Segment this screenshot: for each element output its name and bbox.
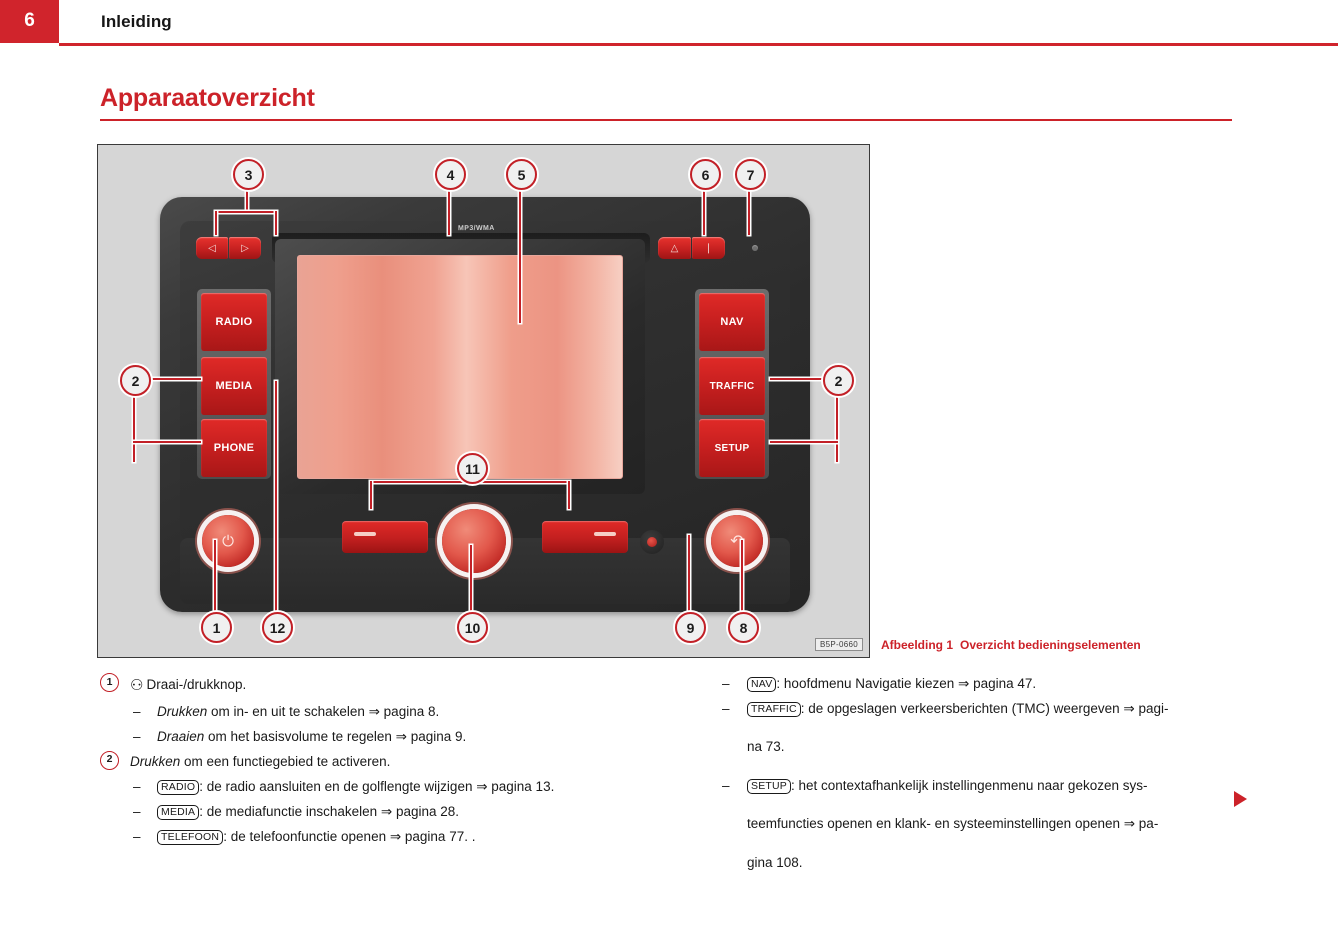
list-item: – TELEFOON: de telefoonfunctie openen ⇒ …	[100, 825, 720, 850]
list-item-text: : het contextafhankelijk instellingenmen…	[791, 778, 1147, 793]
list-item: – RADIO: de radio aansluiten en de golfl…	[100, 775, 720, 800]
list-item-continuation: teemfuncties openen en klank- en systeem…	[718, 812, 1238, 837]
info-button[interactable]: ❘	[692, 237, 725, 259]
list-item-continuation: gina 108.	[718, 851, 1238, 876]
key-setup: SETUP	[747, 779, 791, 794]
setup-button[interactable]: SETUP	[699, 419, 765, 477]
figure-code: B5P-0660	[815, 638, 863, 651]
microphone-icon	[640, 530, 664, 554]
back-button-knob[interactable]: ↶	[711, 515, 763, 567]
dash-bullet: –	[133, 775, 141, 800]
left-text-column: 1 ⚇Draai-/drukknop. – Drukken om in- en …	[100, 672, 720, 850]
key-telefoon: TELEFOON	[157, 830, 223, 845]
lead-12	[275, 381, 277, 612]
eject-button[interactable]: △	[658, 237, 691, 259]
left-softkey[interactable]	[342, 521, 428, 553]
menu-knob[interactable]	[442, 509, 506, 573]
callout-12: 12	[262, 612, 293, 643]
figure-caption-text: Overzicht bedieningselementen	[960, 638, 1141, 652]
lead-3-right	[275, 211, 277, 235]
lead-11-right	[568, 481, 570, 509]
next-page-arrow-icon	[1234, 791, 1247, 807]
callout-11: 11	[457, 453, 488, 484]
list-item: 1 ⚇Draai-/drukknop.	[100, 672, 720, 700]
dash-bullet: –	[722, 774, 730, 799]
lead-1	[214, 540, 216, 612]
list-item: – MEDIA: de mediafunctie inschakelen ⇒ p…	[100, 800, 720, 825]
key-traffic: TRAFFIC	[747, 702, 801, 717]
callout-5: 5	[506, 159, 537, 190]
list-item-text: : de radio aansluiten en de golflengte w…	[199, 779, 554, 794]
media-button[interactable]: MEDIA	[201, 357, 267, 415]
dash-bullet: –	[722, 672, 730, 697]
right-text-column: – NAV: hoofdmenu Navigatie kiezen ⇒ pagi…	[718, 672, 1238, 889]
page-header: 6 Inleiding	[0, 0, 1338, 46]
callout-3: 3	[233, 159, 264, 190]
list-item-text: Draai-/drukknop.	[146, 677, 246, 692]
display-bezel	[275, 239, 645, 494]
next-track-button[interactable]: ▷	[229, 237, 261, 259]
list-item-text: : de opgeslagen verkeersberichten (TMC) …	[801, 701, 1169, 716]
nav-button[interactable]: NAV	[699, 293, 765, 351]
page-number: 6	[0, 0, 59, 43]
lead-2-left-bottom	[133, 441, 201, 443]
list-item-text: om het basisvolume te regelen ⇒ pagina 9…	[204, 729, 466, 744]
callout-4: 4	[435, 159, 466, 190]
dash-bullet: –	[722, 697, 730, 722]
lead-9	[688, 535, 690, 612]
lead-2-right-bottom	[770, 441, 838, 443]
list-item: – NAV: hoofdmenu Navigatie kiezen ⇒ pagi…	[718, 672, 1238, 697]
radio-button[interactable]: RADIO	[201, 293, 267, 351]
phone-button[interactable]: PHONE	[201, 419, 267, 477]
power-volume-knob[interactable]: ⏻	[202, 515, 254, 567]
lead-8	[741, 540, 743, 612]
callout-9: 9	[675, 612, 706, 643]
callout-marker-2: 2	[100, 751, 119, 770]
callout-10: 10	[457, 612, 488, 643]
dash-bullet: –	[133, 700, 141, 725]
lead-11-left	[370, 481, 372, 509]
figure-caption: Afbeelding 1Overzicht bedieningselemente…	[881, 638, 1141, 652]
key-media: MEDIA	[157, 805, 199, 820]
callout-6: 6	[690, 159, 721, 190]
callout-7: 7	[735, 159, 766, 190]
figure-caption-number: Afbeelding 1	[881, 638, 953, 652]
list-item: – TRAFFIC: de opgeslagen verkeersbericht…	[718, 697, 1238, 722]
list-item: 2 Drukken om een functiegebied te active…	[100, 750, 720, 775]
emphasis: Draaien	[157, 729, 204, 744]
callout-1: 1	[201, 612, 232, 643]
emphasis: Drukken	[130, 754, 180, 769]
key-radio: RADIO	[157, 780, 199, 795]
list-item-text: : de mediafunctie inschakelen ⇒ pagina 2…	[199, 804, 459, 819]
rotary-knob-icon: ⚇	[130, 677, 143, 694]
ir-sensor-icon	[752, 245, 758, 251]
callout-2-right: 2	[823, 365, 854, 396]
list-item-text: om in- en uit te schakelen ⇒ pagina 8.	[207, 704, 439, 719]
dash-bullet: –	[133, 800, 141, 825]
dash-bullet: –	[133, 725, 141, 750]
prev-track-button[interactable]: ◁	[196, 237, 228, 259]
lead-5	[519, 173, 521, 323]
radio-navigation-unit: MP3/WMA ◁ ▷ △ ❘ RADIO MEDIA PHONE NAV TR…	[160, 197, 810, 612]
lead-10	[470, 545, 472, 612]
header-divider	[59, 43, 1338, 46]
callout-2-left: 2	[120, 365, 151, 396]
key-nav: NAV	[747, 677, 776, 692]
list-item-text: om een functiegebied te activeren.	[180, 754, 390, 769]
list-item: – SETUP: het contextafhankelijk instelli…	[718, 774, 1238, 799]
list-item-text: : hoofdmenu Navigatie kiezen ⇒ pagina 47…	[776, 676, 1036, 691]
page-title: Apparaatoverzicht	[100, 84, 315, 113]
emphasis: Drukken	[157, 704, 207, 719]
chapter-title: Inleiding	[101, 0, 172, 43]
display-screen[interactable]	[297, 255, 623, 479]
callout-marker-1: 1	[100, 673, 119, 692]
callout-8: 8	[728, 612, 759, 643]
traffic-button[interactable]: TRAFFIC	[699, 357, 765, 415]
list-item: – Draaien om het basisvolume te regelen …	[100, 725, 720, 750]
lead-3-bracket	[215, 211, 277, 213]
device-figure: MP3/WMA ◁ ▷ △ ❘ RADIO MEDIA PHONE NAV TR…	[97, 144, 870, 658]
dash-bullet: –	[133, 825, 141, 850]
list-item-text: : de telefoonfunctie openen ⇒ pagina 77.…	[223, 829, 475, 844]
list-item: – Drukken om in- en uit te schakelen ⇒ p…	[100, 700, 720, 725]
right-softkey[interactable]	[542, 521, 628, 553]
section-divider	[100, 119, 1232, 121]
list-item-continuation: na 73.	[718, 735, 1238, 760]
mp3-wma-label: MP3/WMA	[458, 225, 495, 232]
lead-3-left	[215, 211, 217, 235]
